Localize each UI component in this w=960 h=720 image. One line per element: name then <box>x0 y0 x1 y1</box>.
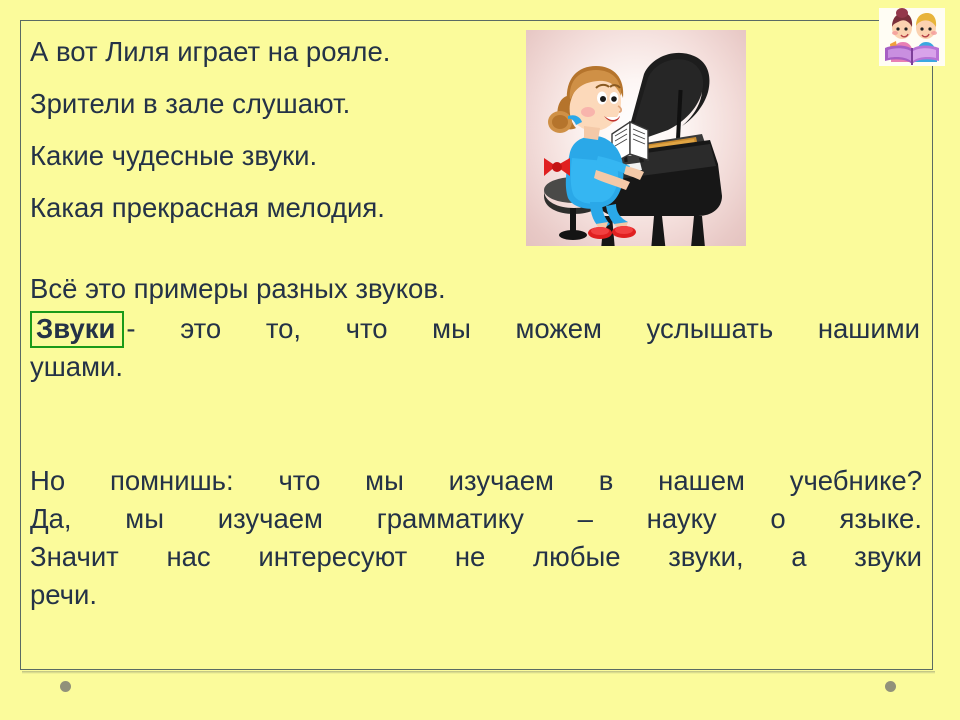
intro-line-4: Какая прекрасная мелодия. <box>30 182 530 234</box>
definition-block: Звуки- это то, что мы можем услышать наш… <box>30 310 920 386</box>
definition-dash: - <box>126 313 135 344</box>
intro-paragraph: А вот Лиля играет на рояле. Зрители в за… <box>30 26 530 234</box>
grammar-paragraph: Но помнишь: что мы изучаем в нашем учебн… <box>30 462 922 614</box>
definition-line-1-wrap: Звуки- это то, что мы можем услышать наш… <box>30 310 920 348</box>
grammar-line-1: Но помнишь: что мы изучаем в нашем учебн… <box>30 462 922 500</box>
intro-line-2: Зрители в зале слушают. <box>30 78 530 130</box>
nav-dot-right[interactable] <box>885 681 896 692</box>
definition-lead-line: Всё это примеры разных звуков. <box>30 270 920 308</box>
intro-line-3: Какие чудесные звуки. <box>30 130 530 182</box>
slide-canvas: А вот Лиля играет на рояле. Зрители в за… <box>0 0 960 720</box>
intro-line-1: А вот Лиля играет на рояле. <box>30 26 530 78</box>
definition-line-1: это то, что мы можем услышать нашими <box>180 313 920 344</box>
grammar-line-2: Да, мы изучаем грамматику – науку о язык… <box>30 500 922 538</box>
definition-line-2: ушами. <box>30 348 920 386</box>
highlighted-term-zvuki: Звуки <box>30 311 124 348</box>
definition-paragraph: Всё это примеры разных звуков. Звуки- эт… <box>30 270 920 386</box>
children-reading-icon <box>879 8 945 66</box>
nav-dot-left[interactable] <box>60 681 71 692</box>
grammar-line-3: Значит нас интересуют не любые звуки, а … <box>30 538 922 576</box>
grammar-line-4: речи. <box>30 576 922 614</box>
frame-shadow <box>22 671 935 674</box>
piano-illustration <box>526 30 746 246</box>
